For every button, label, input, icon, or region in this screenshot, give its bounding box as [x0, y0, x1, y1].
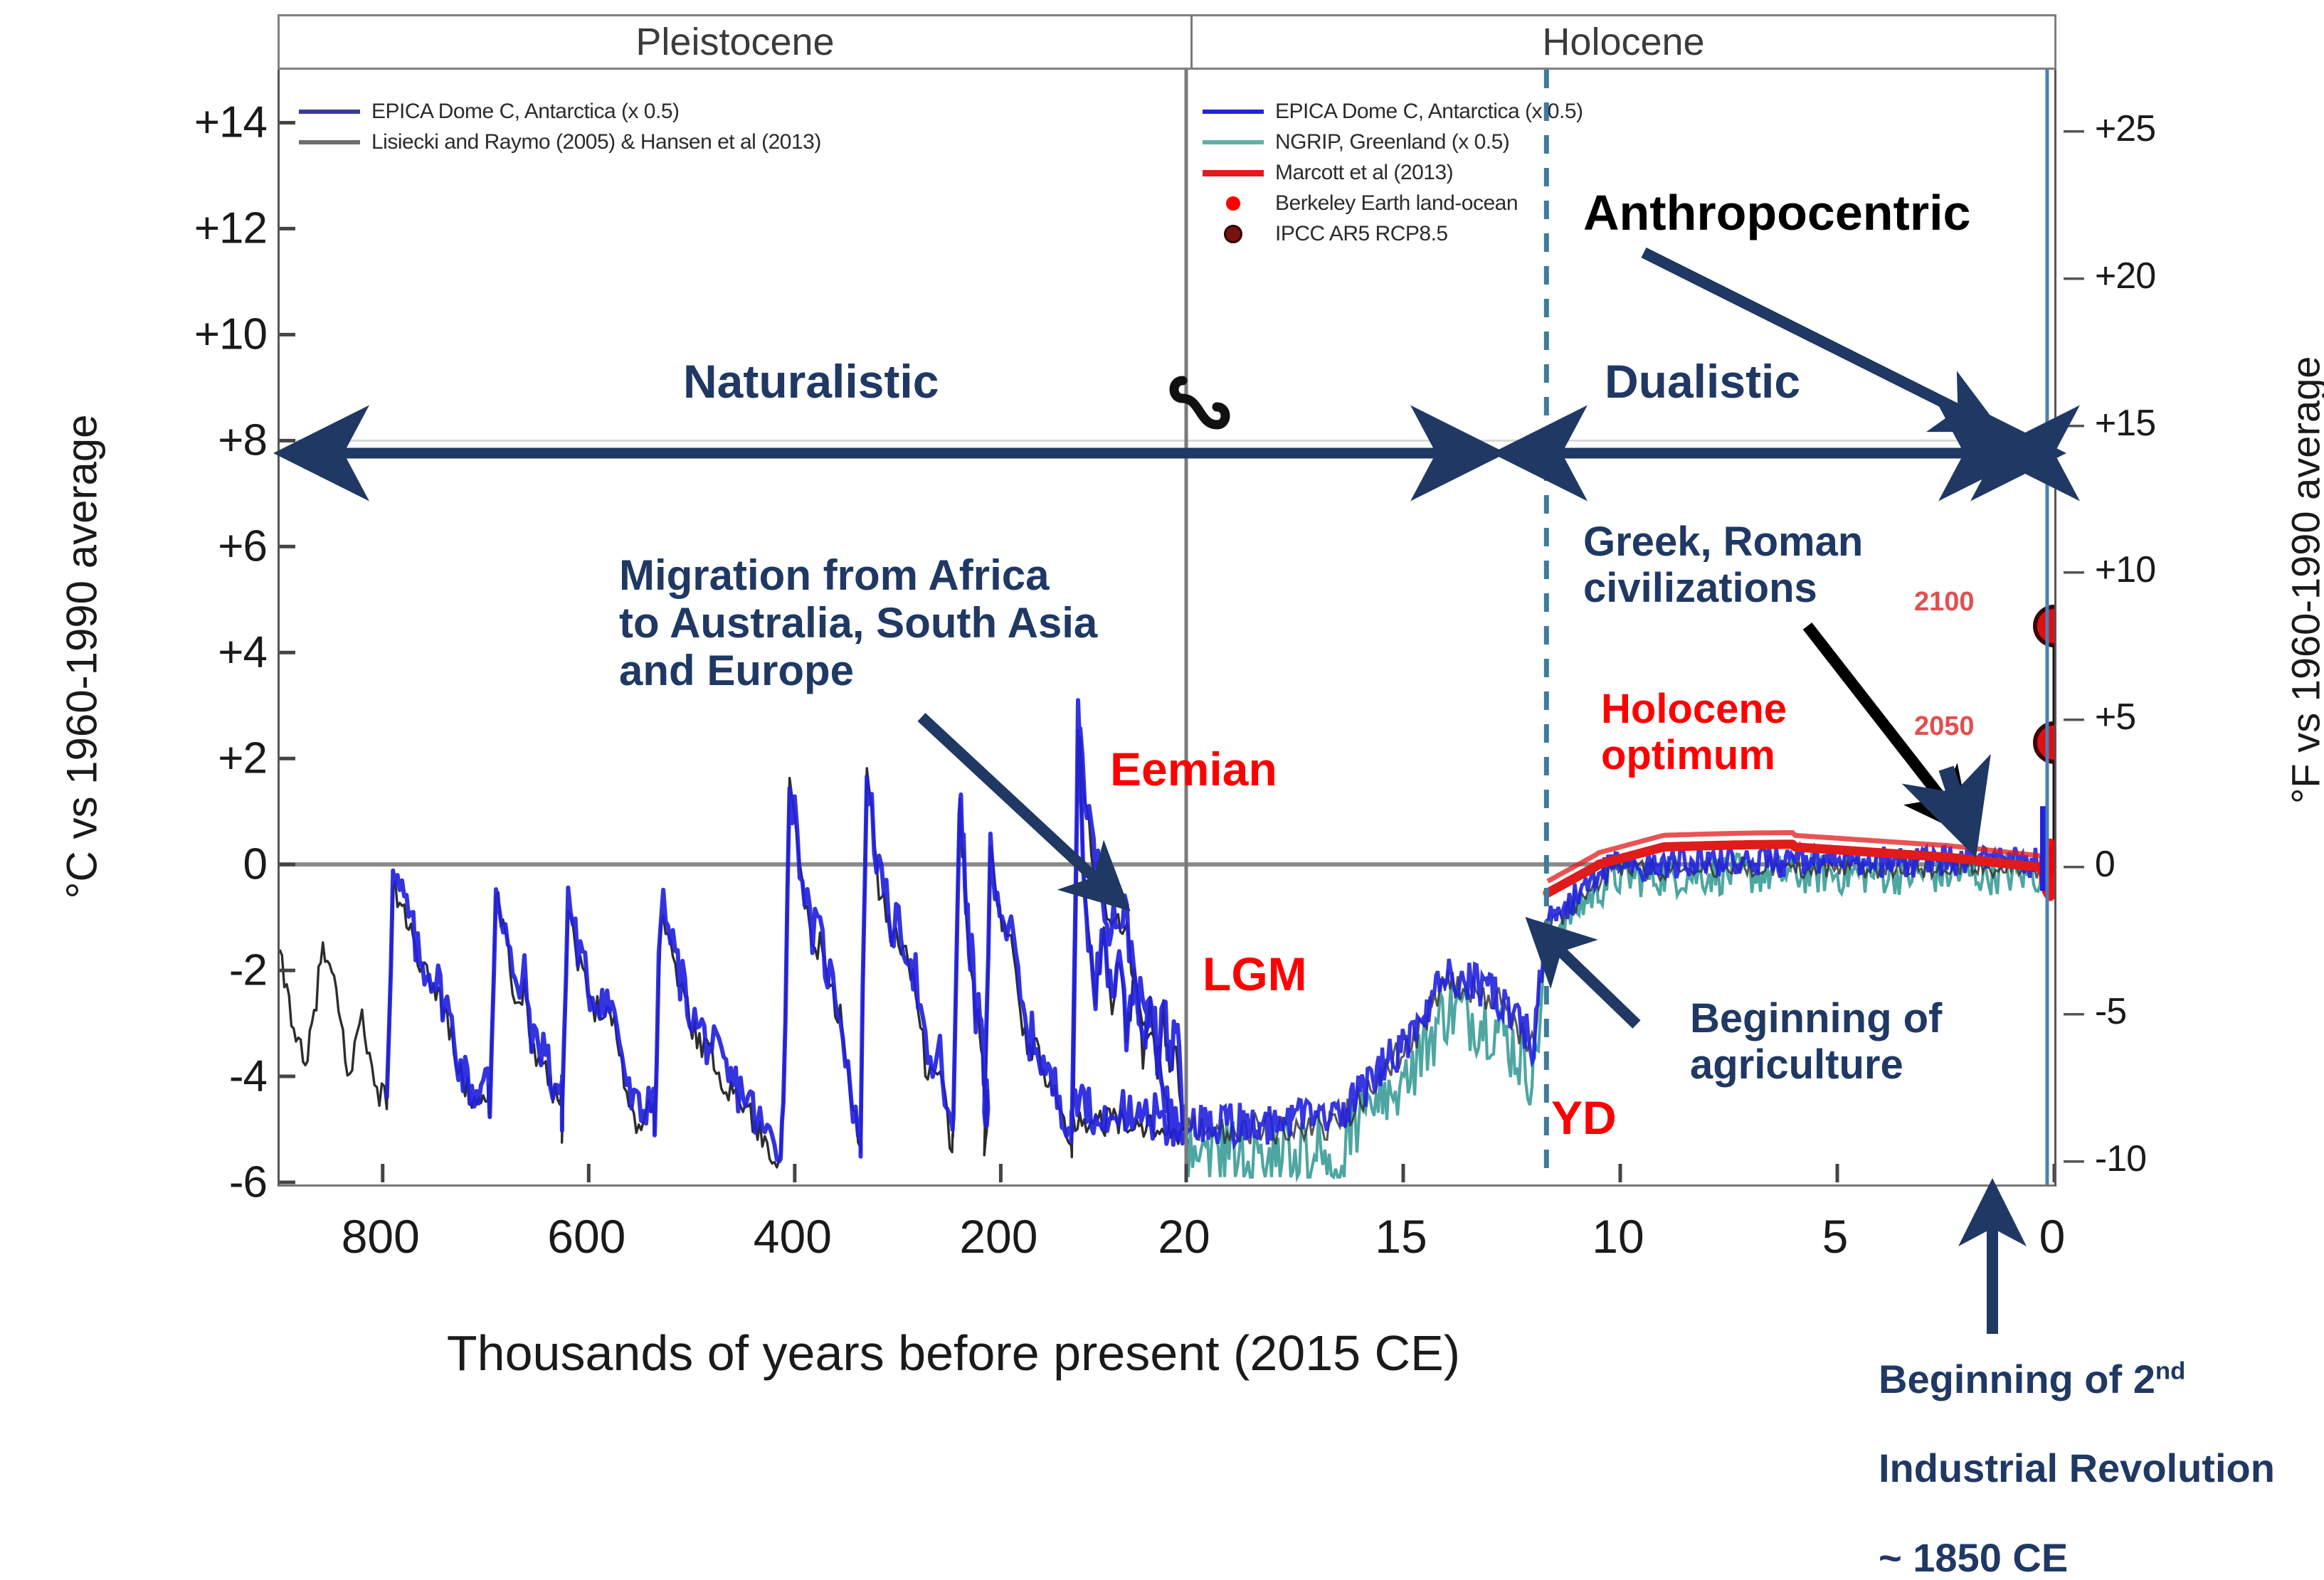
y-tick-left-p2: +2 — [218, 733, 267, 784]
x-tick-20k: 20 — [1158, 1209, 1210, 1263]
legend-item: EPICA Dome C, Antarctica (x 0.5) — [1203, 100, 1583, 124]
legend-label: Marcott et al (2013) — [1275, 161, 1453, 185]
y-tick-right-p5: –+5 — [2064, 696, 2135, 738]
y-axis-right-title-wrap: °F vs 1960-1990 average — [1985, 612, 2324, 669]
annotation-greek-roman: Greek, Roman civilizations — [1583, 519, 1863, 612]
x-axis-ticks: 80060040020020151050 — [278, 1209, 2056, 1288]
annotation-yd: YD — [1551, 1092, 1617, 1145]
legend-label: EPICA Dome C, Antarctica (x 0.5) — [1275, 100, 1583, 124]
legend-label: EPICA Dome C, Antarctica (x 0.5) — [371, 100, 680, 124]
y-tick-right-p10: –+10 — [2064, 548, 2155, 591]
y-tick-right-p20: –+20 — [2064, 255, 2155, 297]
y-axis-right-title: °F vs 1960-1990 average — [2283, 477, 2324, 804]
legend-label: IPCC AR5 RCP8.5 — [1275, 222, 1448, 246]
legend-item: EPICA Dome C, Antarctica (x 0.5) — [299, 100, 821, 124]
legend-line-swatch — [1203, 140, 1264, 144]
y-tick-left-p14: +14 — [194, 97, 267, 148]
projection-label-2100: 2100 — [1914, 587, 1975, 617]
epoch-header-band: Pleistocene Holocene — [278, 14, 2056, 70]
industrial-revolution-line1: Beginning of 2nd — [1879, 1357, 2185, 1401]
industrial-revolution-line3: ~ 1850 CE — [1879, 1535, 2068, 1580]
x-tick-200: 200 — [959, 1209, 1037, 1263]
x-tick-15k: 15 — [1375, 1209, 1427, 1263]
y-tick-left-m6: -6 — [229, 1157, 267, 1208]
legend-dot — [1226, 196, 1240, 211]
annotation-lgm: LGM — [1203, 948, 1307, 1001]
legend-item: IPCC AR5 RCP8.5 — [1203, 222, 1583, 246]
x-tick-5k: 5 — [1822, 1209, 1849, 1263]
annotation-agriculture: Beginning of agriculture — [1690, 996, 1942, 1088]
x-tick-600: 600 — [547, 1209, 625, 1263]
annotation-holocene-optimum: Holocene optimum — [1601, 686, 1787, 779]
legend-line-swatch — [1203, 110, 1264, 114]
y-tick-right-m10: –-10 — [2064, 1138, 2146, 1180]
legend-item: Marcott et al (2013) — [1203, 161, 1583, 185]
chart-root: Pleistocene Holocene +14+12+10+8+6+4+20-… — [0, 0, 2324, 1489]
y-tick-left-p10: +10 — [194, 309, 267, 360]
legend-left: EPICA Dome C, Antarctica (x 0.5)Lisiecki… — [299, 100, 821, 161]
y-tick-left-m4: -4 — [229, 1051, 267, 1102]
legend-item: Lisiecki and Raymo (2005) & Hansen et al… — [299, 130, 821, 154]
legend-dot-swatch — [1203, 196, 1264, 211]
legend-dot — [1224, 225, 1242, 243]
annotation-industrial-revolution: Beginning of 2nd Industrial Revolution ~… — [1879, 1313, 2275, 1580]
y-tick-left-p6: +6 — [218, 521, 267, 572]
annotation-migration: Migration from Africa to Australia, Sout… — [619, 551, 1097, 695]
y-tick-left-p8: +8 — [218, 415, 267, 466]
legend-label: Lisiecki and Raymo (2005) & Hansen et al… — [371, 130, 821, 154]
x-tick-0k: 0 — [2039, 1209, 2066, 1263]
industrial-revolution-line2: Industrial Revolution — [1879, 1446, 2275, 1490]
legend-label: NGRIP, Greenland (x 0.5) — [1275, 130, 1509, 154]
y-tick-right-p15: –+15 — [2064, 402, 2155, 445]
legend-line-swatch — [1203, 170, 1264, 176]
era-label-naturalistic: Naturalistic — [683, 356, 939, 408]
era-label-anthropocentric: Anthropocentric — [1583, 185, 1970, 240]
legend-line-swatch — [299, 110, 360, 114]
series-epica-pleistocene — [387, 700, 1188, 1161]
legend-item: Berkeley Earth land-ocean — [1203, 191, 1583, 216]
y-tick-right-0: –0 — [2064, 843, 2115, 886]
projection-label-2050: 2050 — [1914, 711, 1975, 742]
legend-dot-swatch — [1203, 225, 1264, 243]
annotation-eemian: Eemian — [1110, 743, 1277, 796]
x-axis-title: Thousands of years before present (2015 … — [278, 1325, 1630, 1382]
x-tick-800: 800 — [342, 1209, 420, 1263]
epoch-label-pleistocene: Pleistocene — [280, 16, 1193, 68]
legend-label: Berkeley Earth land-ocean — [1275, 191, 1518, 216]
legend-item: NGRIP, Greenland (x 0.5) — [1203, 130, 1583, 154]
y-tick-right-p25: –+25 — [2064, 107, 2155, 150]
y-axis-left-title-wrap: °C vs 1960-1990 average — [0, 628, 402, 685]
x-tick-400: 400 — [754, 1209, 832, 1263]
epoch-label-holocene: Holocene — [1193, 16, 2054, 68]
y-tick-right-m5: –-5 — [2064, 990, 2126, 1033]
ipcc-rcp85-dot-2050 — [2035, 723, 2054, 762]
y-tick-left-0: 0 — [243, 839, 267, 890]
y-tick-left-m2: -2 — [229, 945, 267, 996]
y-axis-left-title: °C vs 1960-1990 average — [58, 414, 107, 898]
legend-right: EPICA Dome C, Antarctica (x 0.5)NGRIP, G… — [1203, 100, 1583, 253]
y-tick-left-p12: +12 — [194, 203, 267, 254]
legend-line-swatch — [299, 140, 360, 144]
x-tick-10k: 10 — [1592, 1209, 1644, 1263]
era-label-dualistic: Dualistic — [1605, 356, 1800, 408]
